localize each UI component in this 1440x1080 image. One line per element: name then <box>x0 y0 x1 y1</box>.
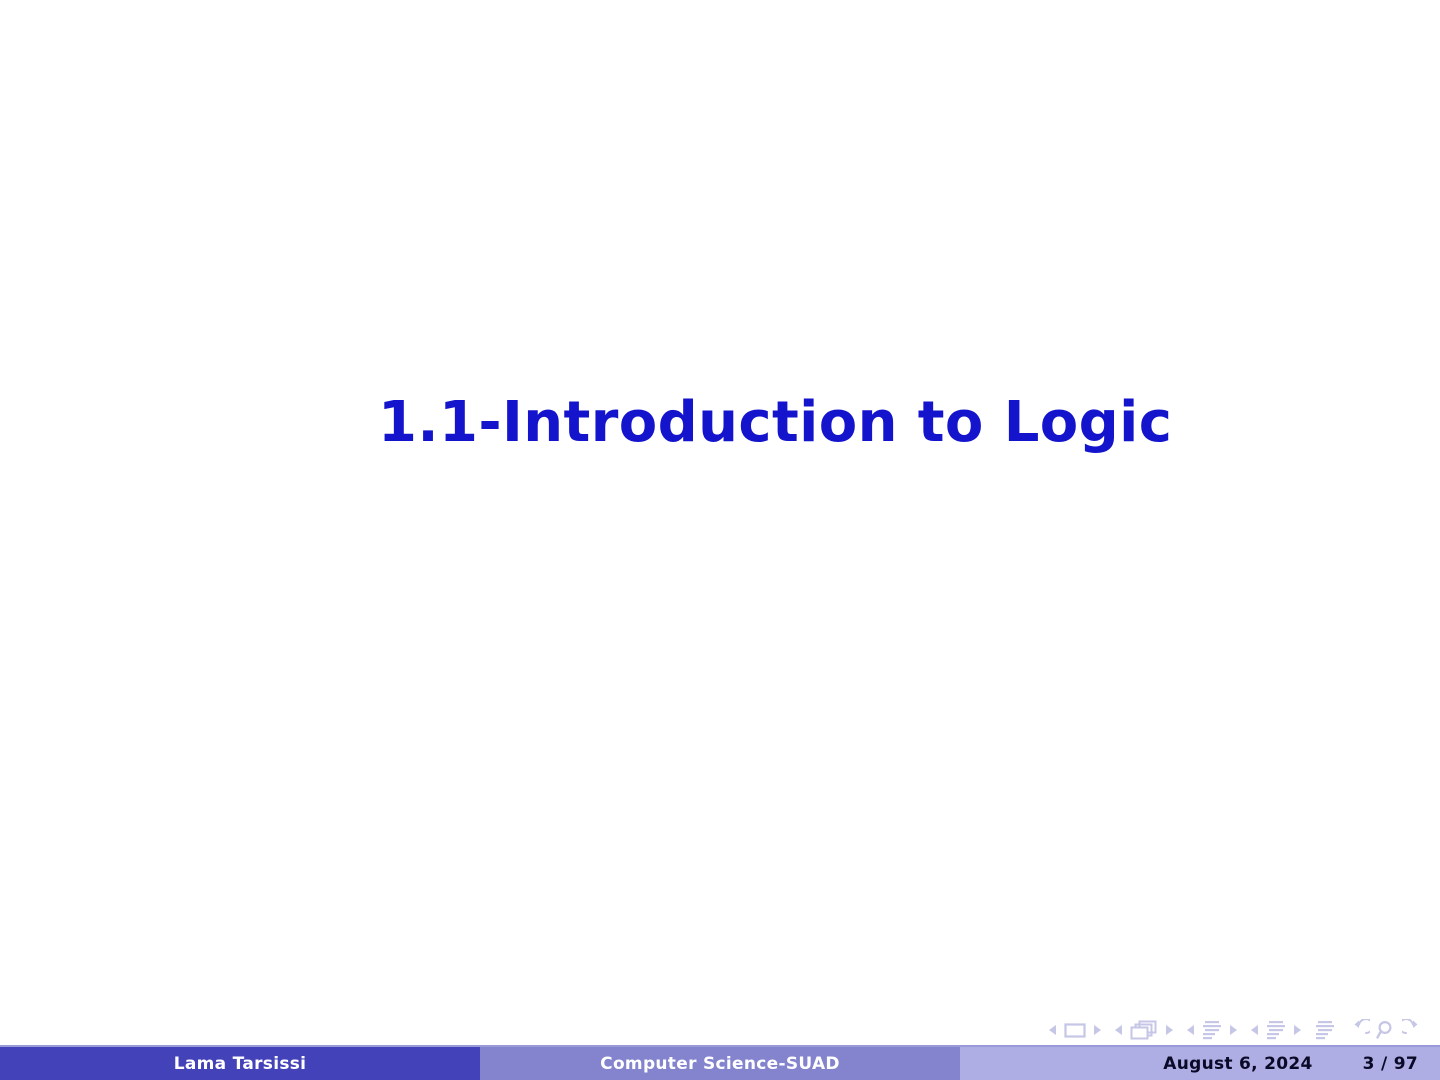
next-frame-icon[interactable] <box>1164 1024 1174 1036</box>
back-arrow-icon[interactable] <box>1348 1019 1370 1041</box>
footer-date: August 6, 2024 <box>1163 1054 1312 1074</box>
section-navigation-group <box>1250 1019 1302 1041</box>
next-subsection-icon[interactable] <box>1228 1024 1238 1036</box>
footer-author: Lama Tarsissi <box>0 1047 480 1080</box>
slide-content-area: 1.1-Introduction to Logic <box>0 0 1440 1010</box>
previous-section-icon[interactable] <box>1250 1024 1260 1036</box>
document-navigation-group <box>1314 1019 1336 1041</box>
single-frame-icon[interactable] <box>1063 1022 1087 1039</box>
search-icon[interactable] <box>1375 1019 1397 1041</box>
page-title: 1.1-Introduction to Logic <box>378 392 1068 454</box>
footer-institute: Computer Science-SUAD <box>480 1047 960 1080</box>
history-navigation-group <box>1348 1019 1424 1041</box>
footer-frame-number: 3 / 97 <box>1363 1054 1418 1074</box>
next-slide-icon[interactable] <box>1092 1024 1102 1036</box>
document-lines-icon[interactable] <box>1314 1019 1336 1041</box>
previous-subsection-icon[interactable] <box>1186 1024 1196 1036</box>
previous-frame-icon[interactable] <box>1114 1024 1124 1036</box>
section-lines-icon[interactable] <box>1265 1019 1287 1041</box>
previous-slide-icon[interactable] <box>1048 1024 1058 1036</box>
slide-navigation-group <box>1048 1022 1102 1039</box>
next-section-icon[interactable] <box>1292 1024 1302 1036</box>
beamer-navigation-symbols <box>1048 1016 1424 1044</box>
stacked-frames-icon[interactable] <box>1129 1019 1159 1041</box>
forward-arrow-icon[interactable] <box>1402 1019 1424 1041</box>
beamer-slide: 1.1-Introduction to Logic <box>0 0 1440 1080</box>
footline: Lama Tarsissi Computer Science-SUAD Augu… <box>0 1047 1440 1080</box>
frame-navigation-group <box>1114 1019 1174 1041</box>
subsection-navigation-group <box>1186 1019 1238 1041</box>
subsection-lines-icon[interactable] <box>1201 1019 1223 1041</box>
footer-date-section: August 6, 2024 3 / 97 <box>960 1047 1440 1080</box>
